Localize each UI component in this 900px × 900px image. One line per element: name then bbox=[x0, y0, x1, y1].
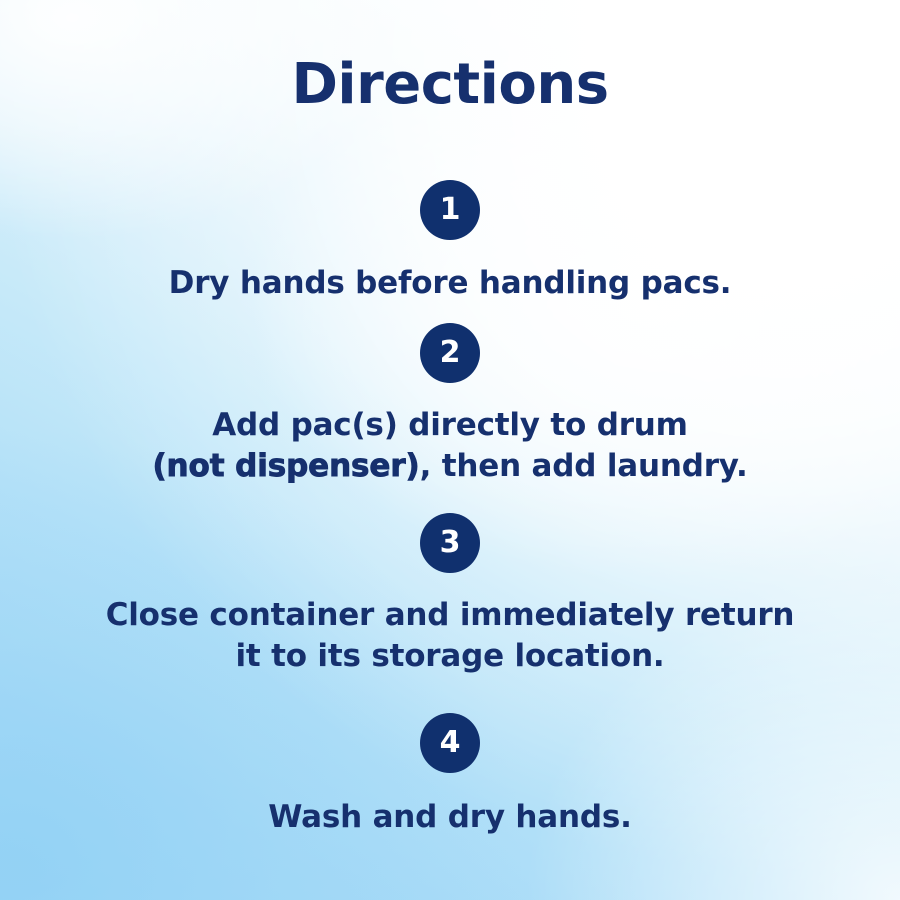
step-number-badge: 3 bbox=[420, 513, 480, 573]
step-text-line: (not dispenser), then add laundry. bbox=[40, 446, 860, 487]
step-text-part: Add pac(s) directly to drum bbox=[212, 407, 688, 443]
step-text-line: Add pac(s) directly to drum bbox=[40, 405, 860, 446]
step-text-part-emphasis: (not dispenser) bbox=[152, 448, 419, 484]
step-text-line: it to its storage location. bbox=[40, 636, 860, 677]
step-instruction-text: Add pac(s) directly to drum (not dispens… bbox=[40, 405, 860, 487]
step-number-badge: 4 bbox=[420, 713, 480, 773]
poster-content: Directions 1 Dry hands before handling p… bbox=[0, 0, 900, 900]
step-text-part: Close container and immediately return bbox=[106, 597, 795, 633]
step-instruction-text: Close container and immediately return i… bbox=[40, 595, 860, 677]
directions-poster: Directions 1 Dry hands before handling p… bbox=[0, 0, 900, 900]
step-4: 4 Wash and dry hands. bbox=[0, 713, 900, 838]
step-text-part: it to its storage location. bbox=[235, 638, 664, 674]
step-number-badge: 1 bbox=[420, 180, 480, 240]
step-2: 2 Add pac(s) directly to drum (not dispe… bbox=[0, 323, 900, 487]
step-text-line: Close container and immediately return bbox=[40, 595, 860, 636]
step-instruction-text: Dry hands before handling pacs. bbox=[40, 263, 860, 304]
step-text-line: Wash and dry hands. bbox=[40, 797, 860, 838]
step-text-part: , then add laundry. bbox=[420, 448, 748, 484]
page-title: Directions bbox=[0, 52, 900, 118]
step-text-part: Dry hands before handling pacs. bbox=[169, 265, 732, 301]
step-text-part: Wash and dry hands. bbox=[268, 799, 631, 835]
step-1: 1 Dry hands before handling pacs. bbox=[0, 180, 900, 304]
step-number-badge: 2 bbox=[420, 323, 480, 383]
step-text-line: Dry hands before handling pacs. bbox=[40, 263, 860, 304]
step-instruction-text: Wash and dry hands. bbox=[40, 797, 860, 838]
step-3: 3 Close container and immediately return… bbox=[0, 513, 900, 677]
